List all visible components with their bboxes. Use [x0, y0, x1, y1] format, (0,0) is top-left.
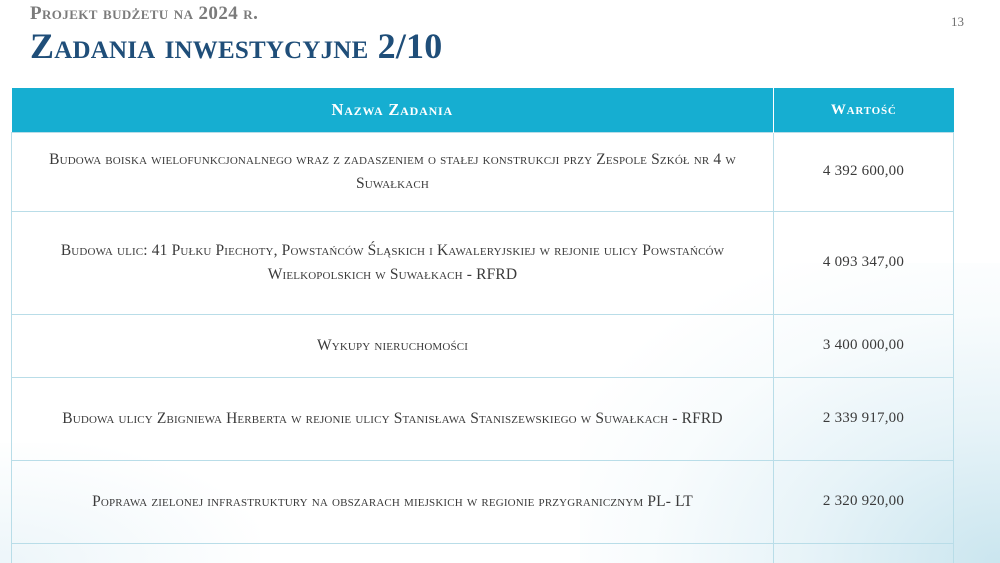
cell-task-value: 4 392 600,00 — [774, 133, 954, 212]
table-row: Budowa boiska wielofunkcjonalnego wraz z… — [12, 133, 954, 212]
slide-header: Projekt budżetu na 2024 r. Zadania inwes… — [30, 4, 930, 66]
table-row: Budowa ulicy Zbigniewa Herberta w rejoni… — [12, 378, 954, 461]
budget-table: Nazwa Zadania Wartość Budowa boiska wiel… — [11, 88, 954, 563]
table-row: Wykupy nieruchomości 3 400 000,00 — [12, 315, 954, 378]
budget-table-container: Nazwa Zadania Wartość Budowa boiska wiel… — [11, 88, 953, 563]
cell-task-value: 3 400 000,00 — [774, 315, 954, 378]
table-row: Poprawa zielonej infrastruktury na obsza… — [12, 461, 954, 544]
page-title: Zadania inwestycyjne 2/10 — [30, 26, 930, 66]
table-row: Budowa ulic: 41 Pułku Piechoty, Powstańc… — [12, 212, 954, 315]
table-header-row: Nazwa Zadania Wartość — [12, 88, 954, 133]
cell-task-name: Poprawa zielonej infrastruktury na obsza… — [12, 461, 774, 544]
table-body: Budowa boiska wielofunkcjonalnego wraz z… — [12, 133, 954, 563]
cell-task-name: Przebudowa ronda przy ul. W. Sikorskiego… — [12, 544, 774, 563]
column-header-value: Wartość — [774, 88, 954, 133]
cell-task-value: 2 339 917,00 — [774, 378, 954, 461]
cell-task-name: Budowa ulicy Zbigniewa Herberta w rejoni… — [12, 378, 774, 461]
cell-task-value: 2 157 642,00 — [774, 544, 954, 563]
column-header-name: Nazwa Zadania — [12, 88, 774, 133]
page-number: 13 — [951, 14, 964, 30]
cell-task-name: Budowa boiska wielofunkcjonalnego wraz z… — [12, 133, 774, 212]
slide-eyebrow: Projekt budżetu na 2024 r. — [30, 4, 930, 24]
cell-task-name: Budowa ulic: 41 Pułku Piechoty, Powstańc… — [12, 212, 774, 315]
cell-task-value: 4 093 347,00 — [774, 212, 954, 315]
slide: Projekt budżetu na 2024 r. Zadania inwes… — [0, 0, 1000, 563]
table-header: Nazwa Zadania Wartość — [12, 88, 954, 133]
table-row: Przebudowa ronda przy ul. W. Sikorskiego… — [12, 544, 954, 563]
cell-task-value: 2 320 920,00 — [774, 461, 954, 544]
cell-task-name: Wykupy nieruchomości — [12, 315, 774, 378]
